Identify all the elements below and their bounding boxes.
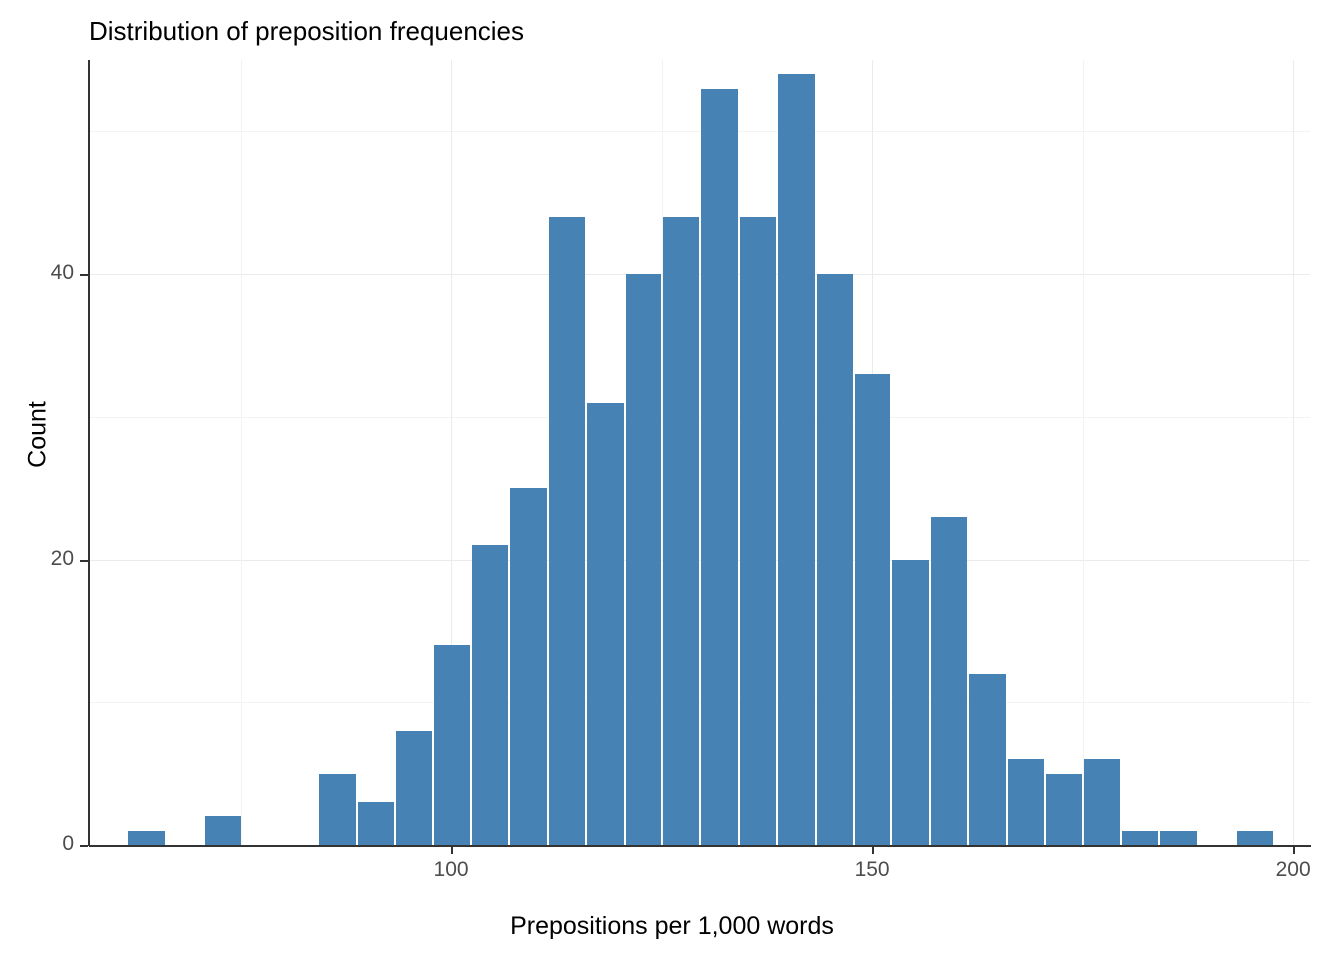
chart-figure: Distribution of preposition frequencies … (0, 0, 1344, 960)
histogram-bar (855, 374, 891, 845)
histogram-bar (510, 488, 547, 845)
histogram-bar (1237, 831, 1273, 845)
histogram-bar (892, 560, 929, 845)
histogram-bar (358, 802, 394, 845)
histogram-bar (778, 74, 815, 845)
histogram-bar (663, 217, 699, 845)
histogram-bar (740, 217, 776, 845)
y-axis-label: Count (24, 185, 53, 685)
histogram-bar (128, 831, 165, 845)
x-axis-line (89, 845, 1311, 847)
y-gridline (89, 274, 1310, 275)
histogram-bar (205, 816, 242, 845)
y-gridline-minor (89, 131, 1310, 132)
histogram-bar (626, 274, 662, 845)
histogram-bar (1046, 774, 1082, 845)
histogram-bar (587, 403, 624, 845)
plot-area (89, 60, 1310, 845)
histogram-bar (1122, 831, 1158, 845)
x-tick-label: 200 (1253, 858, 1333, 882)
histogram-bar (1160, 831, 1197, 845)
x-axis-label: Prepositions per 1,000 words (0, 912, 1344, 941)
histogram-bar (434, 645, 470, 845)
y-tick-mark (80, 845, 88, 847)
y-gridline-minor (89, 702, 1310, 703)
x-tick-mark (872, 846, 874, 854)
histogram-bar (549, 217, 585, 845)
x-tick-label: 150 (832, 858, 912, 882)
y-tick-label: 0 (14, 832, 74, 856)
histogram-bar (472, 545, 508, 845)
x-gridline (1293, 60, 1294, 845)
chart-title: Distribution of preposition frequencies (89, 14, 524, 48)
y-axis-line (88, 60, 90, 846)
y-gridline (89, 560, 1310, 561)
histogram-bar (319, 774, 356, 845)
histogram-bar (817, 274, 853, 845)
histogram-bar (701, 89, 738, 845)
histogram-bar (1008, 759, 1044, 845)
histogram-bar (969, 674, 1006, 845)
y-tick-mark (80, 560, 88, 562)
x-tick-mark (451, 846, 453, 854)
histogram-bar (1084, 759, 1121, 845)
x-gridline-minor (241, 60, 242, 845)
histogram-bar (931, 517, 967, 845)
x-tick-mark (1293, 846, 1295, 854)
x-gridline-minor (662, 60, 663, 845)
histogram-bar (396, 731, 433, 845)
y-tick-mark (80, 274, 88, 276)
x-tick-label: 100 (411, 858, 491, 882)
y-gridline-minor (89, 417, 1310, 418)
x-gridline-minor (1083, 60, 1084, 845)
